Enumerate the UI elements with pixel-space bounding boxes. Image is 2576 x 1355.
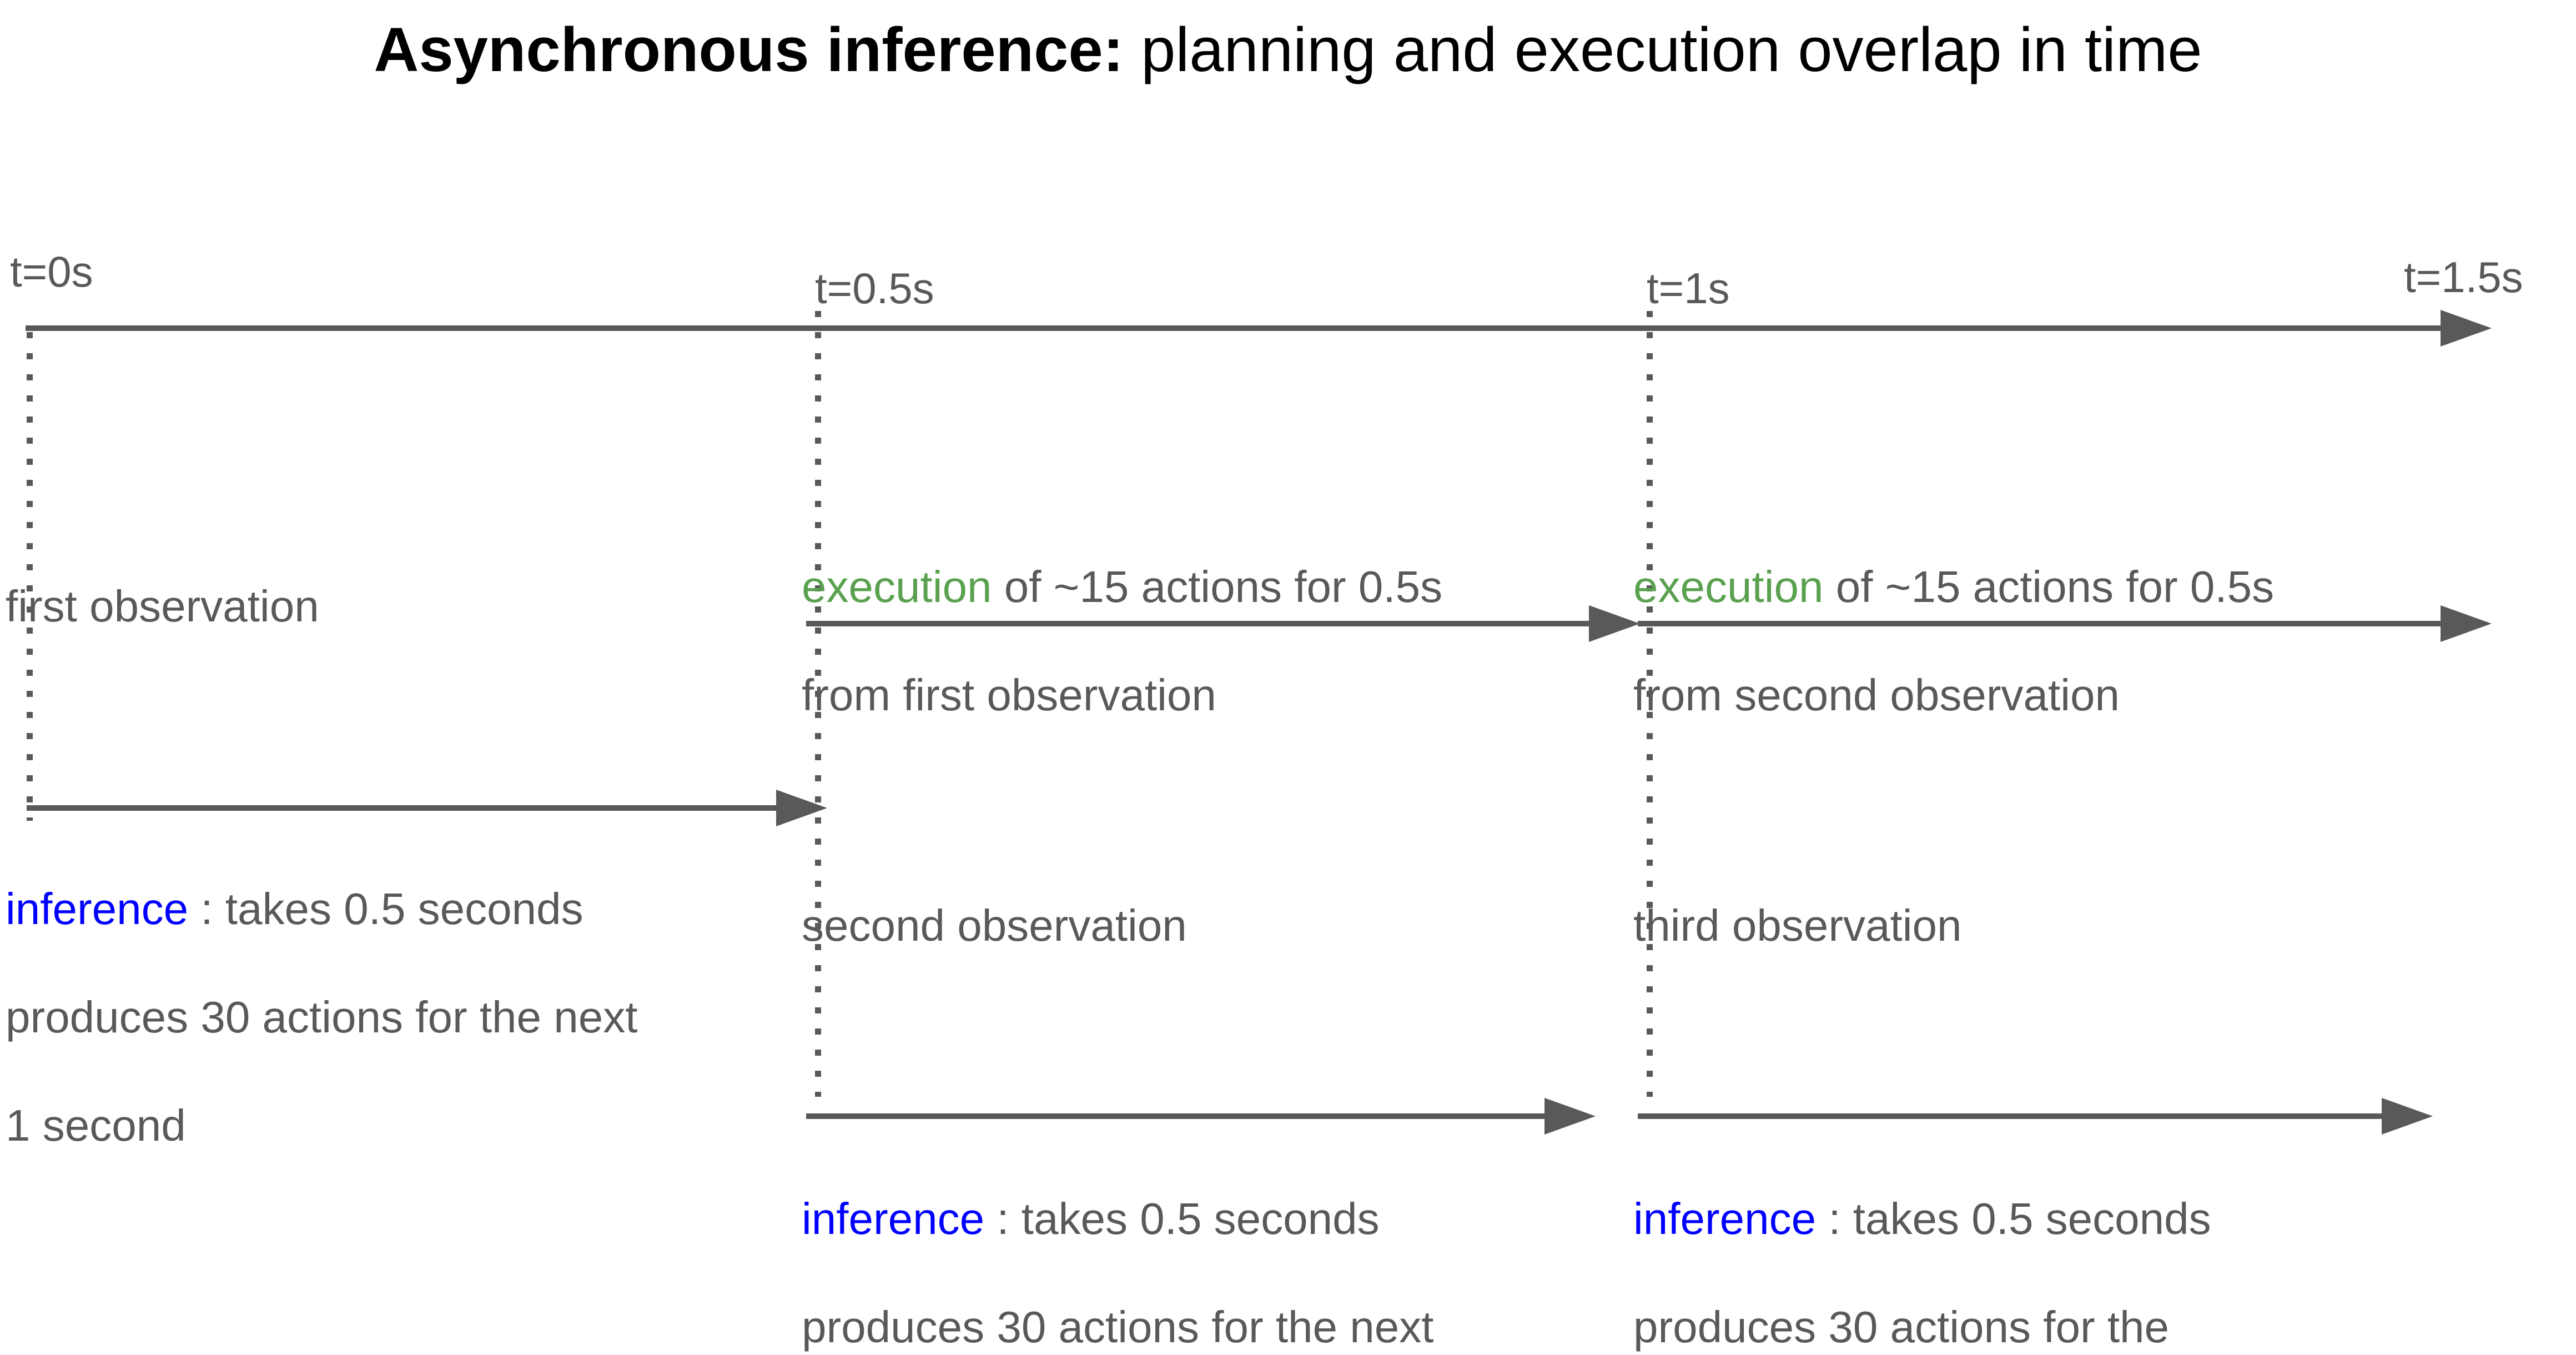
inference-1-line1-rest: : takes 0.5 seconds [188, 884, 583, 934]
execution-keyword-2: execution [1633, 562, 1823, 611]
execution-arrow-2-shaft [1638, 621, 2441, 626]
observation-first-text: first observation [6, 579, 319, 634]
inference-keyword-2: inference [802, 1194, 984, 1243]
inference-3-line1: inference : takes 0.5 seconds [1633, 1192, 2352, 1246]
execution-1-line1-rest: of ~15 actions for 0.5s [992, 562, 1442, 611]
execution-2-line2: from second observation [1633, 668, 2274, 722]
inference-2-line2: produces 30 actions for the next [802, 1300, 1481, 1354]
inference-arrow-1-arrowhead-icon [776, 790, 827, 826]
inference-3-line2: produces 30 actions for the [1633, 1300, 2352, 1354]
tick-label-t1: t=1s [1647, 267, 1730, 310]
execution-2-line1: execution of ~15 actions for 0.5s [1633, 560, 2274, 614]
main-timeline-arrowhead-icon [2441, 310, 2492, 347]
execution-2-line1-rest: of ~15 actions for 0.5s [1823, 562, 2274, 611]
inference-arrow-1-shaft [27, 805, 776, 811]
title-bold-part: Asynchronous inference: [374, 15, 1124, 84]
inference-1-line2: produces 30 actions for the next [6, 990, 637, 1045]
inference-block-3: inference : takes 0.5 seconds produces 3… [1633, 1137, 2352, 1355]
inference-keyword-1: inference [6, 884, 188, 934]
title-rest-part: planning and execution overlap in time [1124, 15, 2202, 84]
execution-1-line1: execution of ~15 actions for 0.5s [802, 560, 1442, 614]
observation-label-third: third observation [1633, 844, 1961, 1007]
execution-block-2: execution of ~15 actions for 0.5s from s… [1633, 505, 2274, 776]
inference-keyword-3: inference [1633, 1194, 1816, 1243]
inference-block-2: inference : takes 0.5 seconds produces 3… [802, 1137, 1481, 1355]
inference-block-1: inference : takes 0.5 seconds produces 3… [6, 827, 637, 1207]
observation-label-second: second observation [802, 844, 1187, 1007]
inference-2-line1: inference : takes 0.5 seconds [802, 1192, 1481, 1246]
execution-arrow-1-arrowhead-icon [1589, 605, 1640, 642]
execution-1-line2: from first observation [802, 668, 1442, 722]
inference-arrow-3-shaft [1638, 1113, 2382, 1119]
inference-1-line3: 1 second [6, 1098, 637, 1153]
execution-arrow-1-shaft [806, 621, 1589, 626]
inference-arrow-2-shaft [806, 1113, 1544, 1119]
tick-label-t0: t=0s [10, 250, 93, 293]
execution-arrow-2-arrowhead-icon [2441, 605, 2492, 642]
observation-label-first: first observation [6, 525, 319, 687]
diagram-canvas: Asynchronous inference: planning and exe… [0, 0, 2576, 1355]
inference-arrow-2-arrowhead-icon [1544, 1098, 1596, 1135]
inference-3-line1-rest: : takes 0.5 seconds [1816, 1194, 2211, 1243]
tick-label-t05: t=0.5s [815, 267, 934, 310]
main-timeline-axis [26, 325, 2441, 331]
inference-arrow-3-arrowhead-icon [2382, 1098, 2433, 1135]
tick-label-t15: t=1.5s [2404, 255, 2523, 299]
execution-block-1: execution of ~15 actions for 0.5s from f… [802, 505, 1442, 776]
observation-third-text: third observation [1633, 899, 1961, 953]
inference-1-line1: inference : takes 0.5 seconds [6, 882, 637, 936]
inference-2-line1-rest: : takes 0.5 seconds [984, 1194, 1380, 1243]
page-title: Asynchronous inference: planning and exe… [0, 11, 2576, 89]
observation-second-text: second observation [802, 899, 1187, 953]
execution-keyword-1: execution [802, 562, 992, 611]
